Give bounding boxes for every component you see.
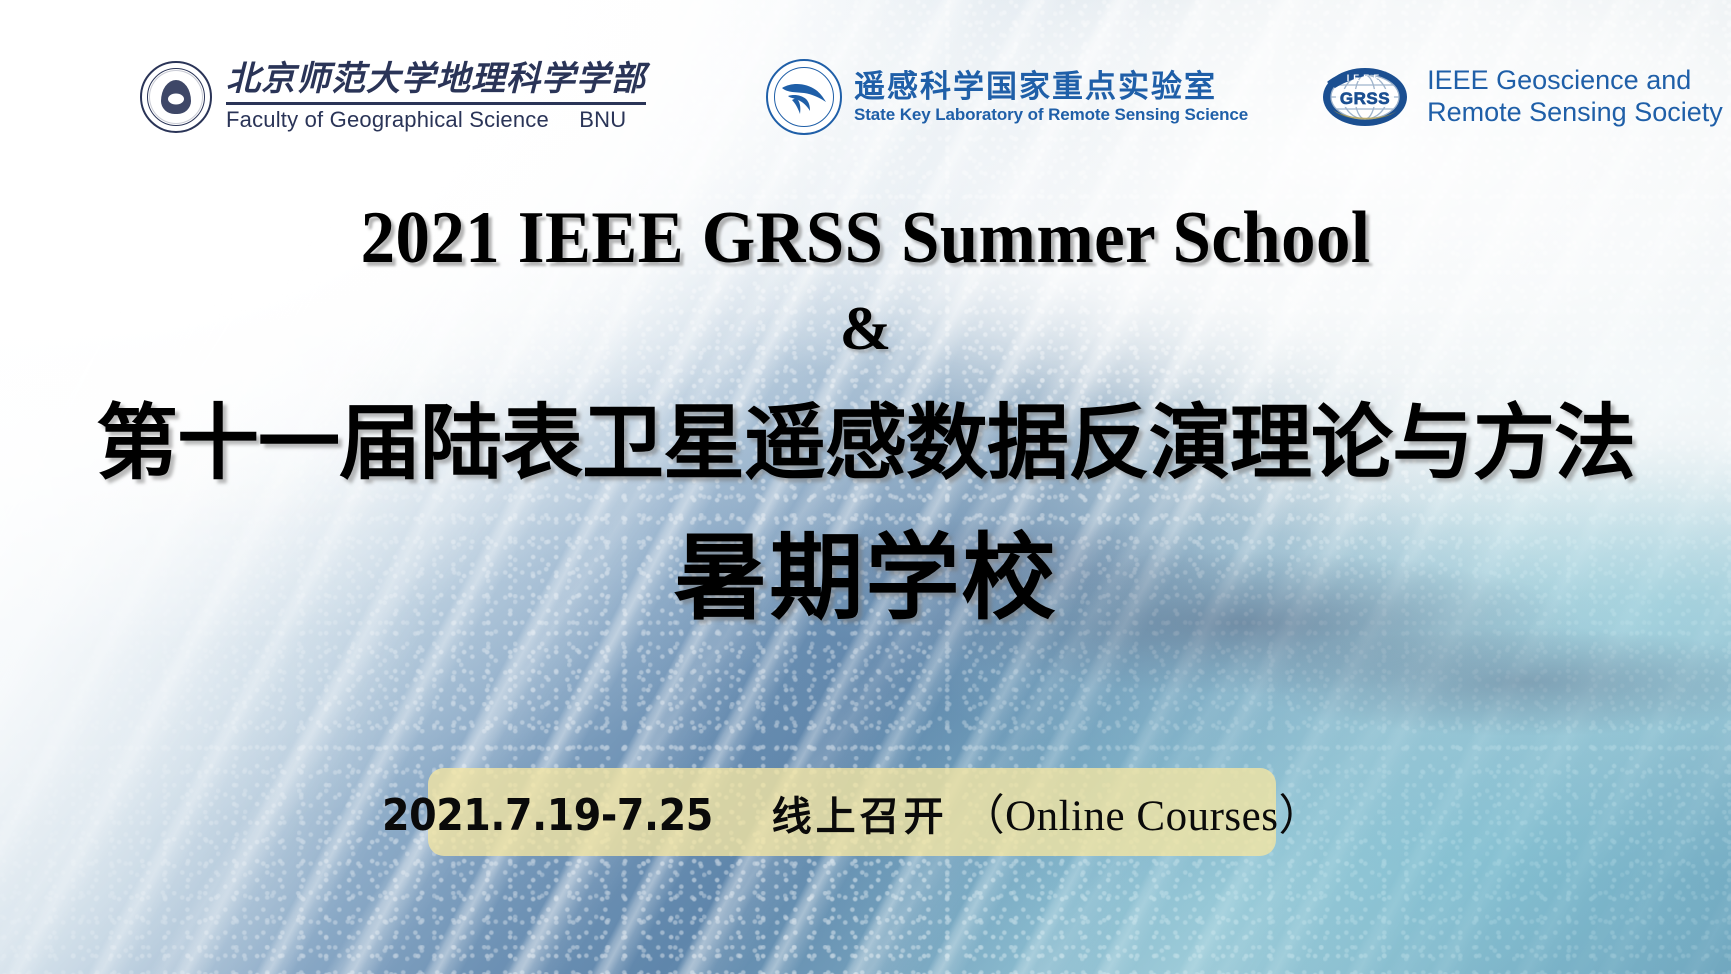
title-ampersand: & <box>0 294 1731 365</box>
logo-sklrs-cn-name: 遥感科学国家重点实验室 <box>854 69 1248 105</box>
sklrs-seal-icon <box>766 59 842 135</box>
grss-globe-icon: IEEE GRSS <box>1321 66 1409 128</box>
logo-grss-name-line1: IEEE Geoscience and <box>1427 65 1723 97</box>
logo-bnu-abbr: BNU <box>579 107 626 132</box>
sklrs-swallow-icon <box>776 74 832 120</box>
logo-bnu: 北京师范大学地理科学学部 Faculty of Geographical Sci… <box>140 61 646 133</box>
logo-bnu-en-label: Faculty of Geographical Science <box>226 107 549 132</box>
logo-bnu-en-name: Faculty of Geographical Science BNU <box>226 107 646 133</box>
bnu-seal-icon <box>140 61 212 133</box>
logo-bnu-cn-name: 北京师范大学地理科学学部 <box>226 61 646 98</box>
logo-sklrs-en-name: State Key Laboratory of Remote Sensing S… <box>854 105 1248 125</box>
date-banner: 2021.7.19-7.25 线上召开 （Online Courses） <box>428 768 1276 856</box>
logo-sklrs-text: 遥感科学国家重点实验室 State Key Laboratory of Remo… <box>854 69 1248 126</box>
grss-globe-svg: IEEE GRSS <box>1321 66 1409 128</box>
logo-bnu-text: 北京师范大学地理科学学部 Faculty of Geographical Sci… <box>226 61 646 132</box>
date-banner-content: 2021.7.19-7.25 线上召开 （Online Courses） <box>382 781 1322 843</box>
event-date-range: 2021.7.19-7.25 <box>382 790 713 841</box>
svg-text:GRSS: GRSS <box>1340 89 1390 108</box>
bnu-seal-emblem <box>161 80 191 114</box>
logo-grss-text: IEEE Geoscience and Remote Sensing Socie… <box>1427 65 1723 129</box>
svg-text:IEEE: IEEE <box>1347 73 1384 83</box>
event-mode-en: （Online Courses） <box>962 781 1322 843</box>
event-mode-cn: 线上召开 <box>772 784 948 842</box>
title-chinese-sub: 暑期学校 <box>0 502 1731 638</box>
logo-sklrs: 遥感科学国家重点实验室 State Key Laboratory of Remo… <box>766 59 1248 135</box>
title-chinese-main: 第十一届陆表卫星遥感数据反演理论与方法 <box>0 376 1731 495</box>
sponsor-logo-row: 北京师范大学地理科学学部 Faculty of Geographical Sci… <box>0 44 1731 150</box>
logo-grss-name-line2: Remote Sensing Society <box>1427 97 1723 129</box>
logo-bnu-divider <box>226 102 646 105</box>
logo-grss: IEEE GRSS IEEE Geoscience and Remote Sen… <box>1321 65 1723 129</box>
title-english: 2021 IEEE GRSS Summer School <box>61 196 1671 281</box>
poster-canvas: 北京师范大学地理科学学部 Faculty of Geographical Sci… <box>0 0 1731 974</box>
